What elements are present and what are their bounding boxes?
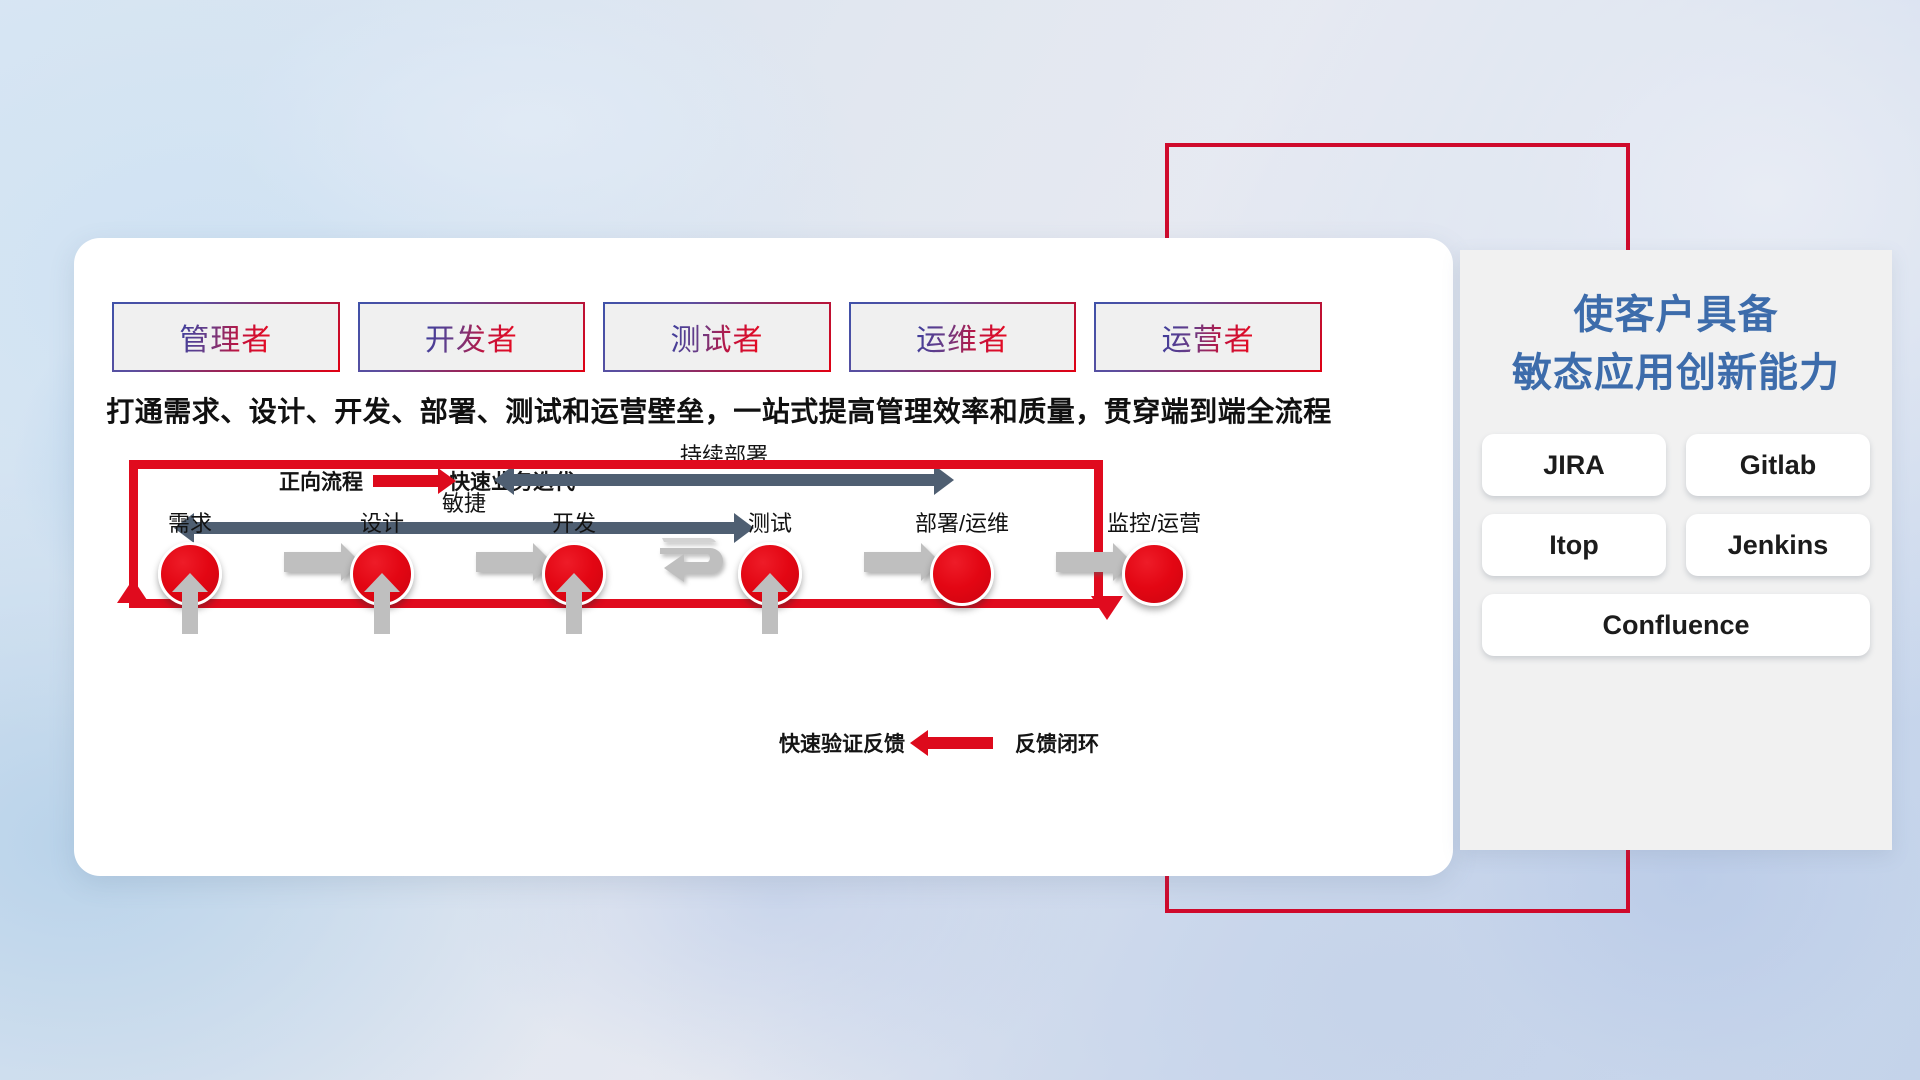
tool-chip-list: JIRA Gitlab Itop Jenkins Confluence — [1482, 434, 1870, 656]
feed-up-arrow-icon — [374, 590, 390, 634]
pipeline-stage-monitor-operations[interactable]: 监控/运营 — [1094, 506, 1214, 606]
panel-title-line1: 使客户具备 — [1460, 286, 1892, 344]
stage-dot-icon — [1122, 542, 1186, 606]
role-label: 运营者 — [1162, 315, 1255, 359]
stage-label: 监控/运营 — [1094, 506, 1214, 538]
feed-up-arrow-icon — [566, 590, 582, 634]
role-label: 测试者 — [670, 315, 763, 359]
stage-dot-icon — [930, 542, 994, 606]
role-box-ops[interactable]: 运维者 — [849, 302, 1077, 372]
role-box-operations[interactable]: 运营者 — [1094, 302, 1322, 372]
feedback-label-right: 反馈闭环 — [1015, 728, 1099, 758]
stage-label: 设计 — [322, 506, 442, 538]
role-label: 运维者 — [916, 315, 1009, 359]
tool-chip-itop[interactable]: Itop — [1482, 514, 1666, 576]
panel-title-line2: 敏态应用创新能力 — [1460, 344, 1892, 402]
panel-title: 使客户具备 敏态应用创新能力 — [1460, 286, 1892, 402]
role-label: 管理者 — [179, 315, 272, 359]
pipeline-stage-deploy-ops[interactable]: 部署/运维 — [902, 506, 1022, 606]
feedback-legend: 快速验证反馈 反馈闭环 — [779, 728, 1099, 758]
stage-label: 需求 — [130, 506, 250, 538]
role-box-row: 管理者 开发者 测试者 运维者 运营者 — [112, 302, 1322, 372]
arrow-left-red-icon — [927, 737, 993, 749]
feed-up-arrow-icon — [762, 590, 778, 634]
tool-chip-jira[interactable]: JIRA — [1482, 434, 1666, 496]
feedback-label-left: 快速验证反馈 — [779, 728, 905, 758]
role-box-manager[interactable]: 管理者 — [112, 302, 340, 372]
role-box-developer[interactable]: 开发者 — [358, 302, 586, 372]
tool-chip-gitlab[interactable]: Gitlab — [1686, 434, 1870, 496]
pipeline: 需求 设计 开发 测试 部署/运维 监控/运营 — [102, 506, 1172, 626]
devops-diagram-card: 管理者 开发者 测试者 运维者 运营者 打通需求、设计、开发、部署、测试和运营壁… — [74, 238, 1453, 876]
feed-up-arrow-icon — [182, 590, 198, 634]
headline-text: 打通需求、设计、开发、部署、测试和运营壁垒，一站式提高管理效率和质量，贯穿端到端… — [74, 390, 1364, 430]
role-label: 开发者 — [425, 315, 518, 359]
tool-chip-jenkins[interactable]: Jenkins — [1686, 514, 1870, 576]
tool-chip-confluence[interactable]: Confluence — [1482, 594, 1870, 656]
value-proposition-panel: 使客户具备 敏态应用创新能力 JIRA Gitlab Itop Jenkins … — [1460, 250, 1892, 850]
stage-label: 测试 — [710, 506, 830, 538]
stage-label: 部署/运维 — [902, 506, 1022, 538]
stage-label: 开发 — [514, 506, 634, 538]
role-box-tester[interactable]: 测试者 — [603, 302, 831, 372]
